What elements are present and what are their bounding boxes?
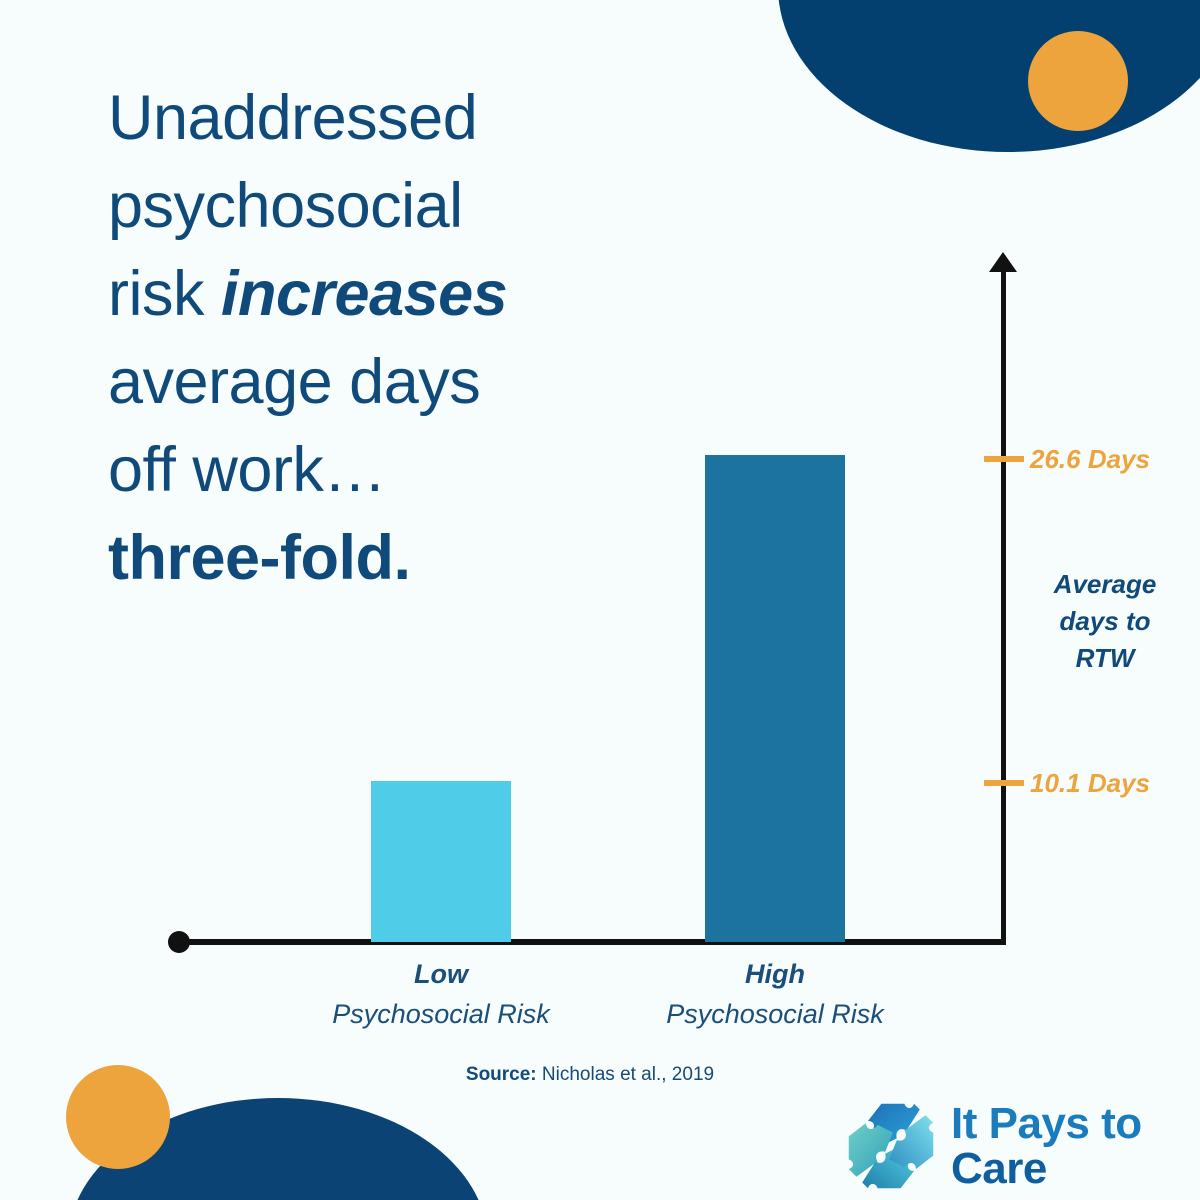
x-axis-label-low-name: Low (281, 954, 601, 994)
y-axis-tick-label-high: 26.6 Days (1030, 444, 1150, 475)
y-axis-title-line-3: RTW (1030, 640, 1180, 677)
y-axis-line (1001, 264, 1006, 945)
brand-logo-text: It Pays to Care (951, 1101, 1142, 1191)
y-axis-title: Average days to RTW (1030, 566, 1180, 677)
x-axis-label-low: Low Psychosocial Risk (281, 954, 601, 1034)
y-axis-tick-label-low: 10.1 Days (1030, 768, 1150, 799)
source-label: Source: (466, 1064, 537, 1085)
x-axis-label-high-name: High (615, 954, 935, 994)
y-axis-tick-low (984, 780, 1024, 786)
x-axis-origin-dot (168, 931, 190, 953)
infographic-canvas: Unaddressed psychosocial risk increases … (0, 0, 1200, 1200)
source-text: Nicholas et al., 2019 (537, 1064, 714, 1085)
y-axis-title-line-1: Average (1030, 566, 1180, 603)
bar-high-psychosocial-risk (705, 455, 845, 942)
x-axis-label-high: High Psychosocial Risk (615, 954, 935, 1034)
source-citation: Source: Nicholas et al., 2019 (0, 1064, 1180, 1086)
brand-logo-line-2: Care (951, 1146, 1142, 1191)
brand-logo-line-1: It Pays to (951, 1101, 1142, 1146)
bar-chart: 26.6 Days 10.1 Days Average days to RTW … (0, 0, 1200, 1200)
x-axis-label-low-sub: Psychosocial Risk (281, 994, 601, 1034)
brand-logo: It Pays to Care (843, 1096, 1183, 1196)
y-axis-title-line-2: days to (1030, 603, 1180, 640)
puzzle-pieces-icon (843, 1098, 939, 1194)
bar-low-psychosocial-risk (371, 781, 511, 942)
x-axis-line (179, 939, 1005, 945)
x-axis-label-high-sub: Psychosocial Risk (615, 994, 935, 1034)
y-axis-tick-high (984, 456, 1024, 462)
